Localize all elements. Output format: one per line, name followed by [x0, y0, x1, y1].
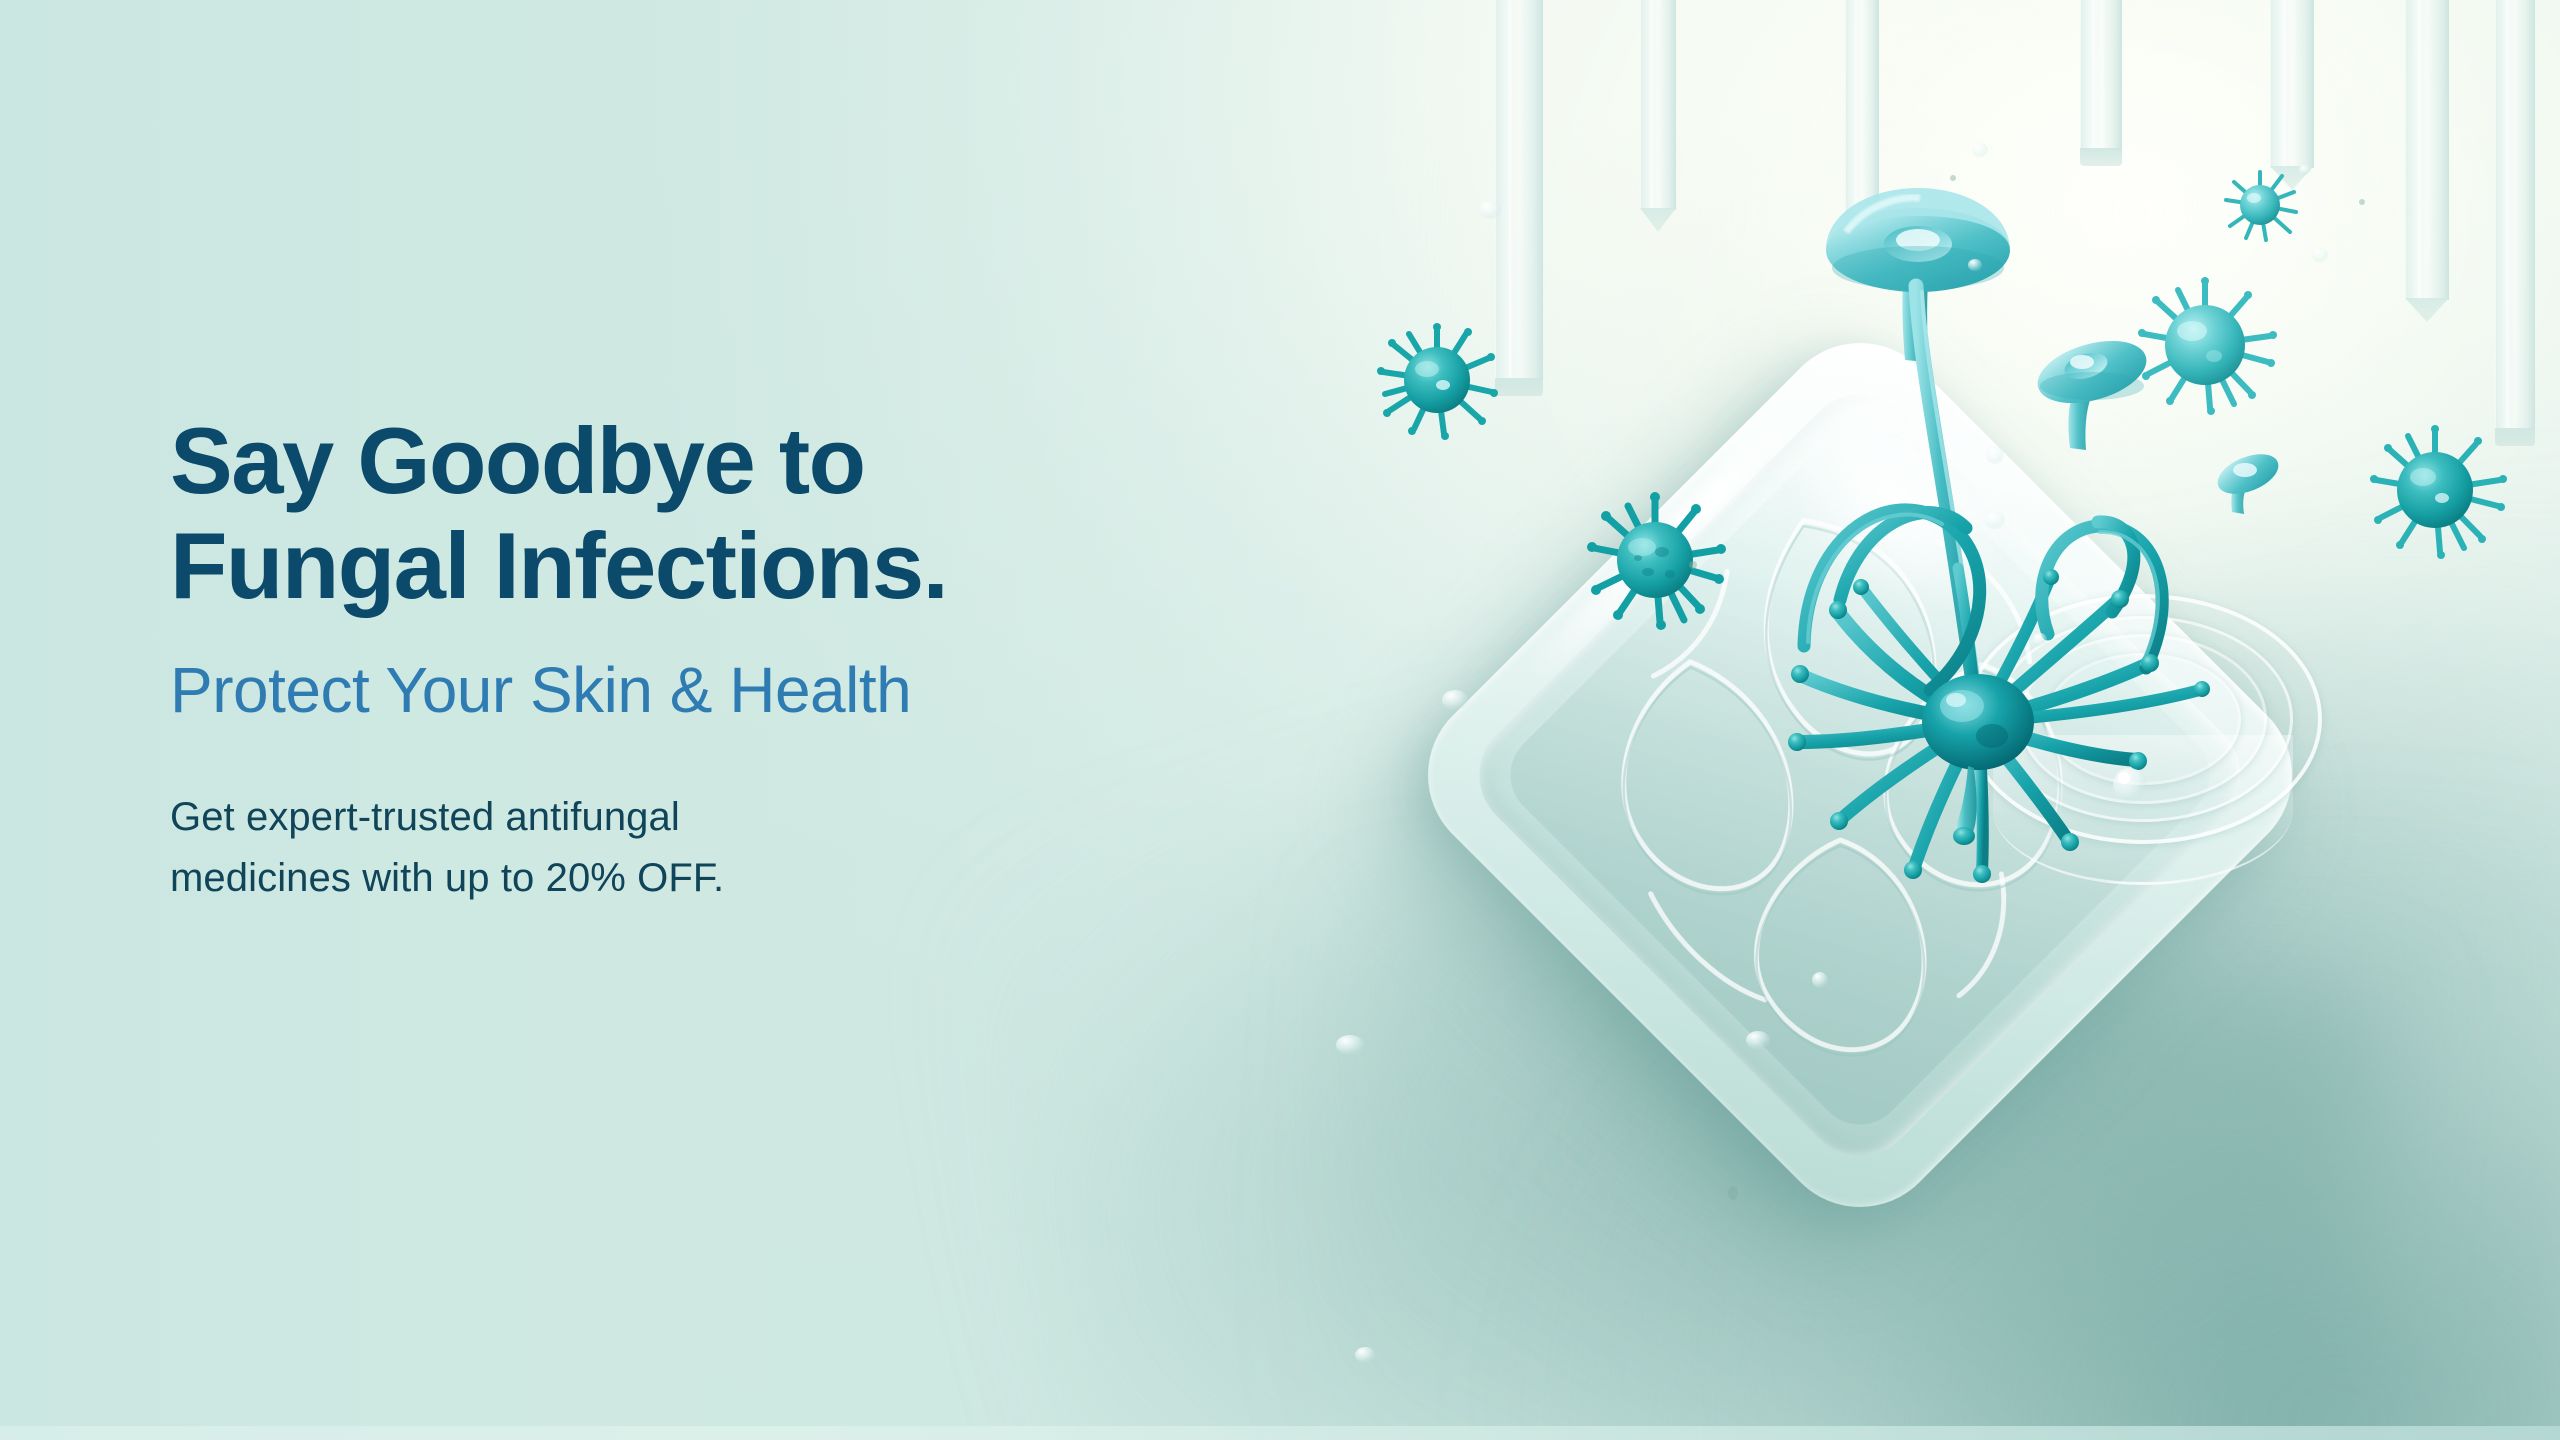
glass-column-4: [2080, 0, 2122, 150]
glass-column-6: [2405, 0, 2449, 300]
body-line-1: Get expert-trusted antifungal: [170, 787, 1350, 848]
subheadline: Protect Your Skin & Health: [170, 655, 1350, 725]
glass-column-1: [1495, 0, 1543, 380]
glass-column-3: [1845, 0, 1879, 248]
glass-column-2: [1640, 0, 1676, 210]
bottom-edge-strip: [0, 1426, 2560, 1440]
copy-block: Say Goodbye to Fungal Infections. Protec…: [170, 408, 1350, 909]
dish-ring-4: [2045, 653, 2241, 785]
headline-line-1: Say Goodbye to: [170, 408, 865, 513]
glass-column-5: [2270, 0, 2314, 168]
body-copy: Get expert-trusted antifungal medicines …: [170, 787, 1350, 909]
body-line-2: medicines with up to 20% OFF.: [170, 848, 1350, 909]
promo-banner: Say Goodbye to Fungal Infections. Protec…: [0, 0, 2560, 1440]
headline-line-2: Fungal Infections.: [170, 513, 1350, 618]
glass-column-7: [2495, 0, 2535, 430]
inner-petri-dish: [1958, 588, 2328, 850]
page-title: Say Goodbye to Fungal Infections.: [170, 408, 1350, 619]
